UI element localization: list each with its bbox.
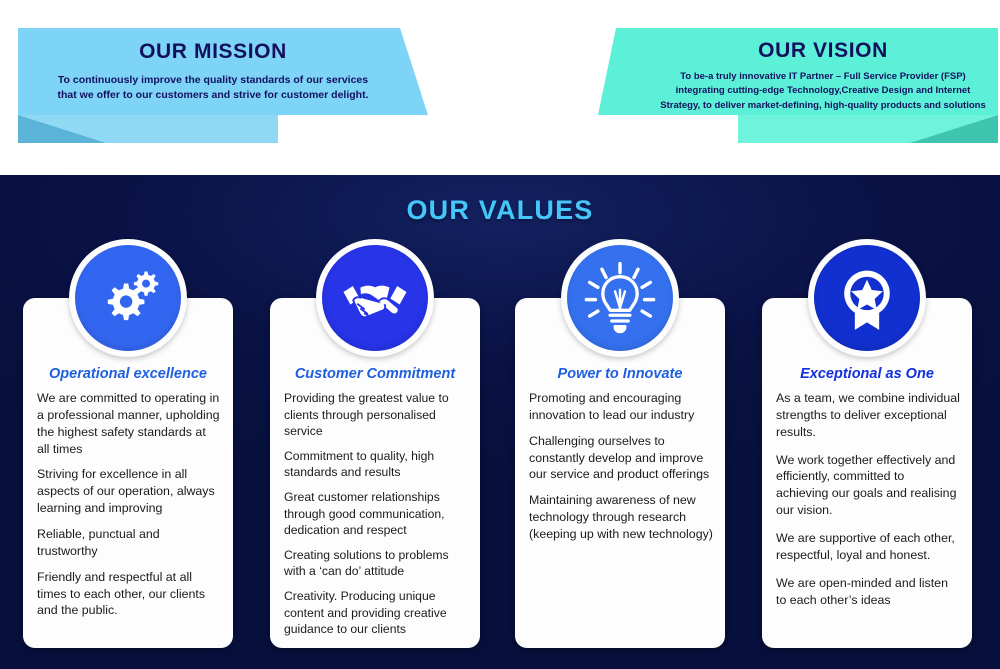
vision-content: OUR VISION To be-a truly innovative IT P… bbox=[658, 39, 988, 113]
infographic-page: OUR MISSION To continuously improve the … bbox=[0, 0, 1000, 669]
card-point: Creativity. Producing unique content and… bbox=[284, 588, 468, 638]
banner-zone: OUR MISSION To continuously improve the … bbox=[0, 0, 1000, 175]
card-point: We are committed to operating in a profe… bbox=[37, 390, 221, 457]
card-body: Providing the greatest value to clients … bbox=[284, 390, 468, 646]
card-title: Exceptional as One bbox=[762, 366, 972, 382]
card-point: Reliable, punctual and trustworthy bbox=[37, 526, 221, 560]
icon-badge bbox=[69, 239, 187, 357]
card-title: Operational excellence bbox=[23, 366, 233, 382]
value-card-operational-excellence: Operational excellence We are committed … bbox=[23, 298, 233, 648]
handshake-icon bbox=[322, 245, 428, 351]
vision-banner: OUR VISION To be-a truly innovative IT P… bbox=[598, 28, 998, 143]
card-title: Power to Innovate bbox=[515, 366, 725, 382]
card-point: We are supportive of each other, respect… bbox=[776, 530, 960, 564]
icon-badge bbox=[808, 239, 926, 357]
card-point: Challenging ourselves to constantly deve… bbox=[529, 433, 713, 484]
card-point: Striving for excellence in all aspects o… bbox=[37, 466, 221, 517]
gears-icon bbox=[75, 245, 181, 351]
card-body: Promoting and encouraging innovation to … bbox=[529, 390, 713, 552]
card-body: We are committed to operating in a profe… bbox=[37, 390, 221, 628]
card-point: Providing the greatest value to clients … bbox=[284, 390, 468, 440]
vision-title: OUR VISION bbox=[658, 39, 988, 63]
value-card-exceptional-as-one: Exceptional as One As a team, we combine… bbox=[762, 298, 972, 648]
icon-badge bbox=[561, 239, 679, 357]
card-point: We are open-minded and listen to each ot… bbox=[776, 575, 960, 609]
card-point: Commitment to quality, high standards an… bbox=[284, 448, 468, 481]
icon-badge bbox=[316, 239, 434, 357]
mission-title: OUR MISSION bbox=[48, 40, 378, 64]
values-section: OUR VALUES bbox=[0, 175, 1000, 669]
lightbulb-icon bbox=[567, 245, 673, 351]
card-point: Friendly and respectful at all times to … bbox=[37, 569, 221, 620]
mission-banner: OUR MISSION To continuously improve the … bbox=[18, 28, 428, 143]
card-point: Promoting and encouraging innovation to … bbox=[529, 390, 713, 424]
award-badge-icon bbox=[814, 245, 920, 351]
value-card-power-to-innovate: Power to Innovate Promoting and encourag… bbox=[515, 298, 725, 648]
value-card-customer-commitment: Customer Commitment Providing the greate… bbox=[270, 298, 480, 648]
card-point: We work together effectively and efficie… bbox=[776, 452, 960, 519]
card-point: As a team, we combine individual strengt… bbox=[776, 390, 960, 441]
card-title: Customer Commitment bbox=[270, 366, 480, 382]
mission-content: OUR MISSION To continuously improve the … bbox=[48, 40, 378, 103]
card-point: Maintaining awareness of new technology … bbox=[529, 492, 713, 543]
card-point: Creating solutions to problems with a ‘c… bbox=[284, 547, 468, 580]
values-card-row: Operational excellence We are committed … bbox=[0, 175, 1000, 669]
mission-body: To continuously improve the quality stan… bbox=[48, 73, 378, 103]
vision-body: To be-a truly innovative IT Partner – Fu… bbox=[658, 70, 988, 113]
card-point: Great customer relationships through goo… bbox=[284, 489, 468, 539]
card-body: As a team, we combine individual strengt… bbox=[776, 390, 960, 619]
